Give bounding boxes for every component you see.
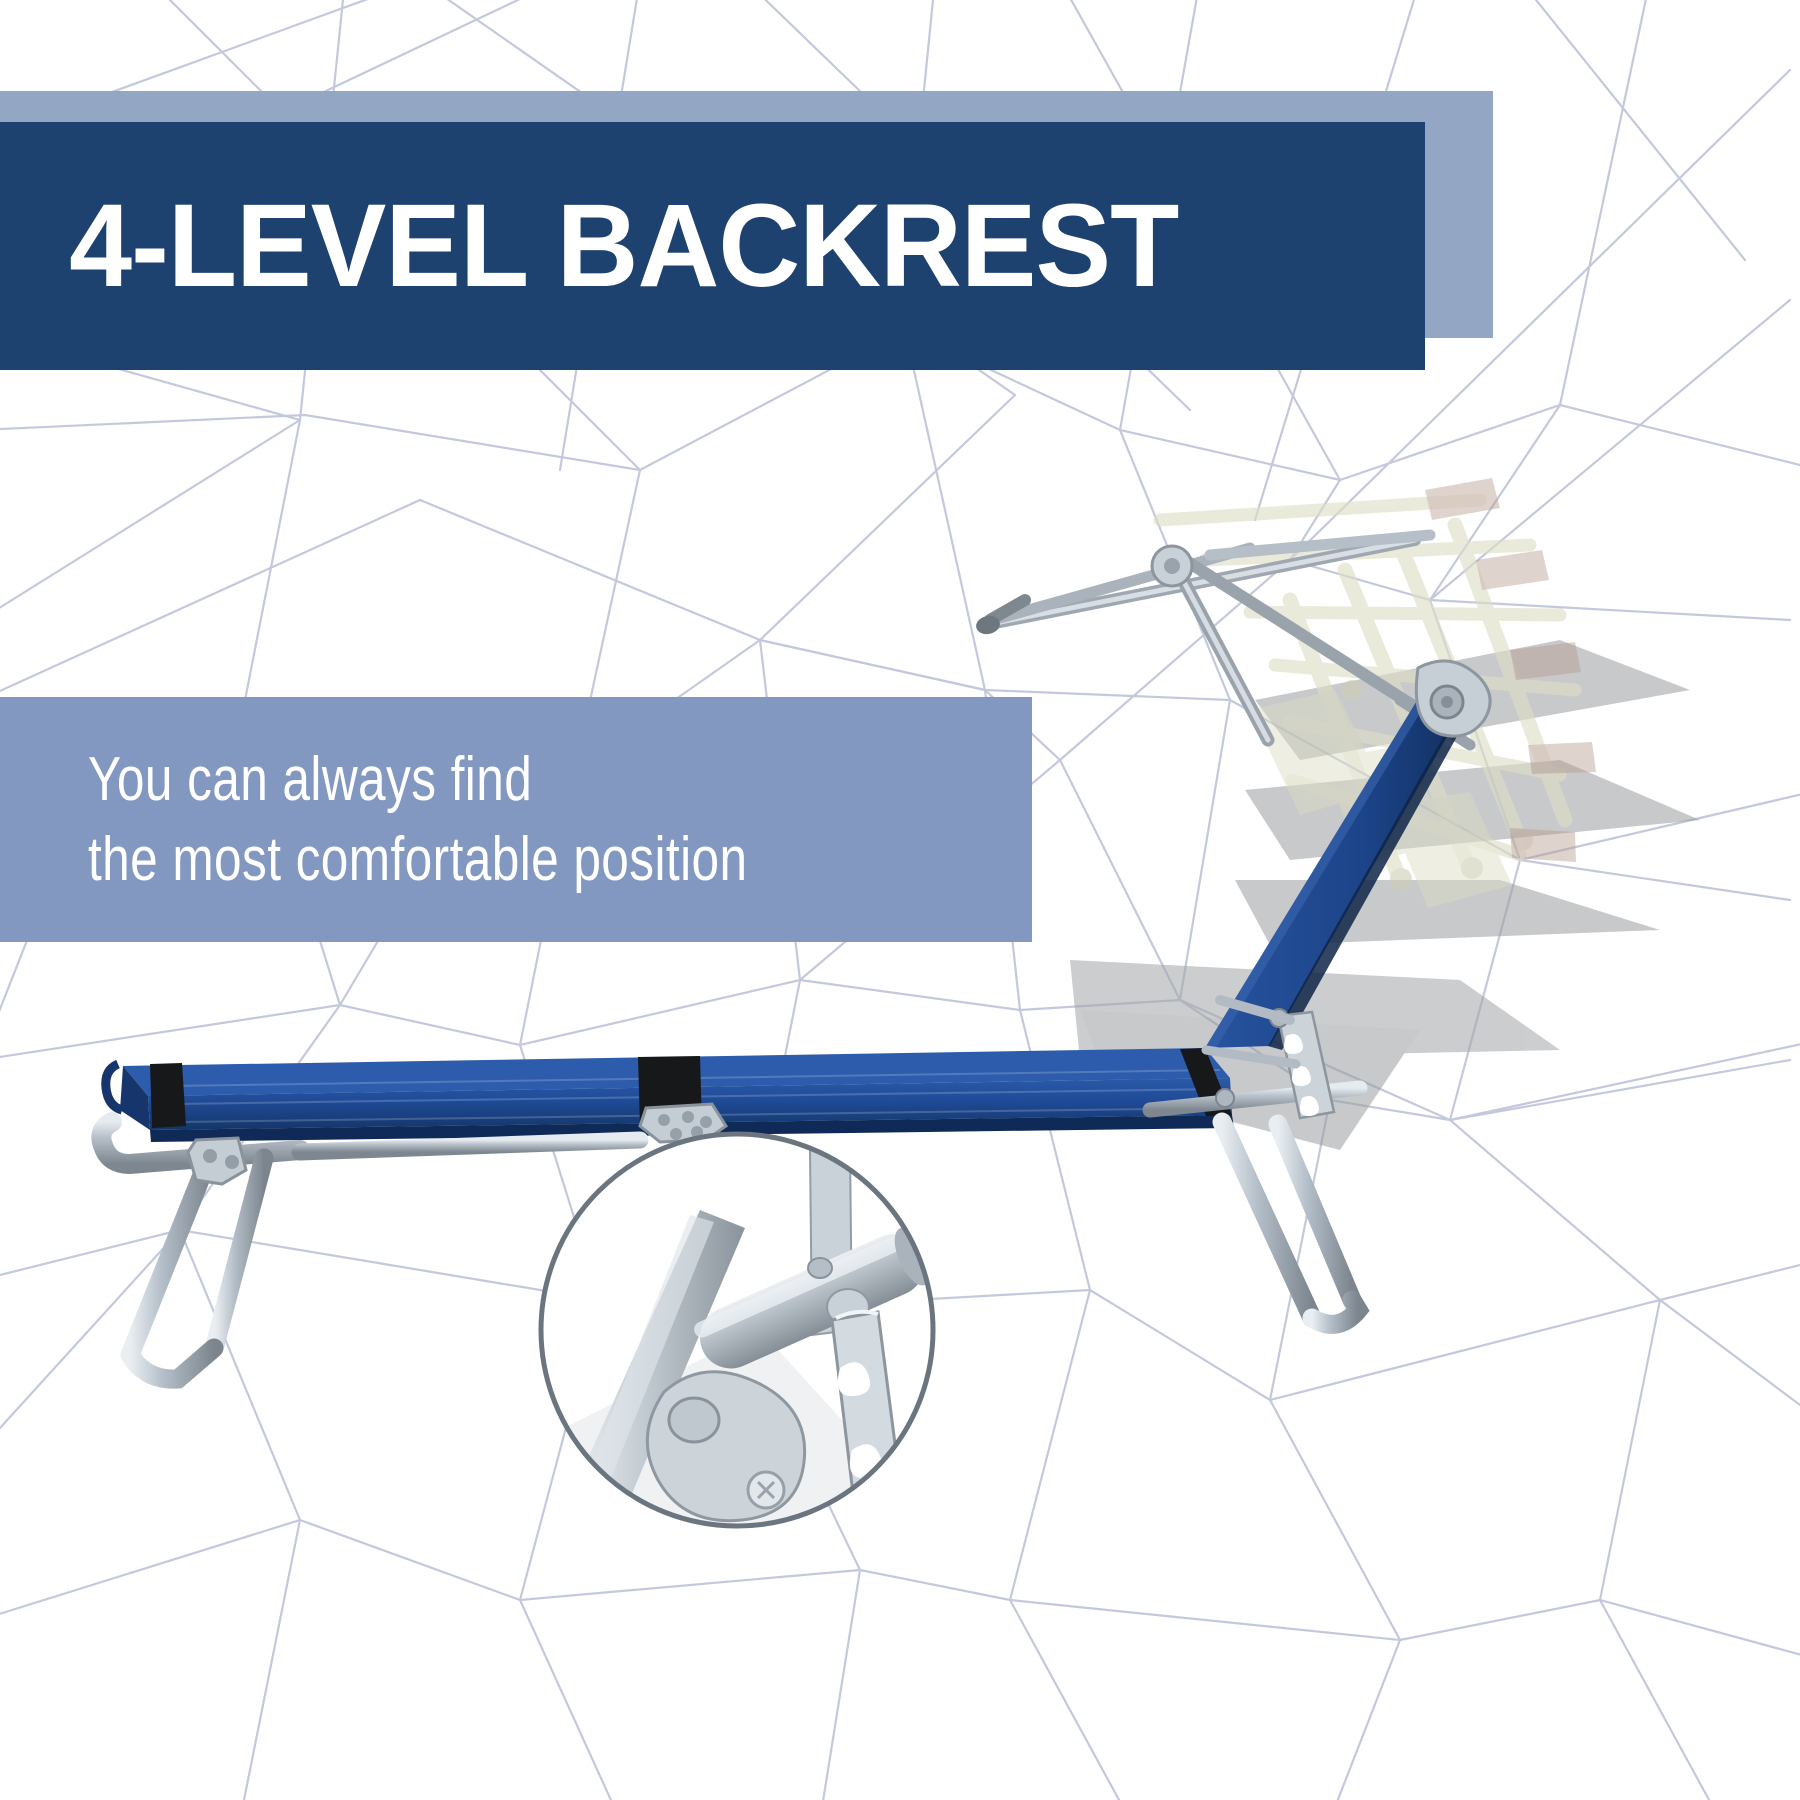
marketing-banner-canvas: 4-LEVEL BACKREST You can always find the…: [0, 0, 1800, 1800]
ratchet-hinge-detail-inset: [0, 0, 1800, 1800]
